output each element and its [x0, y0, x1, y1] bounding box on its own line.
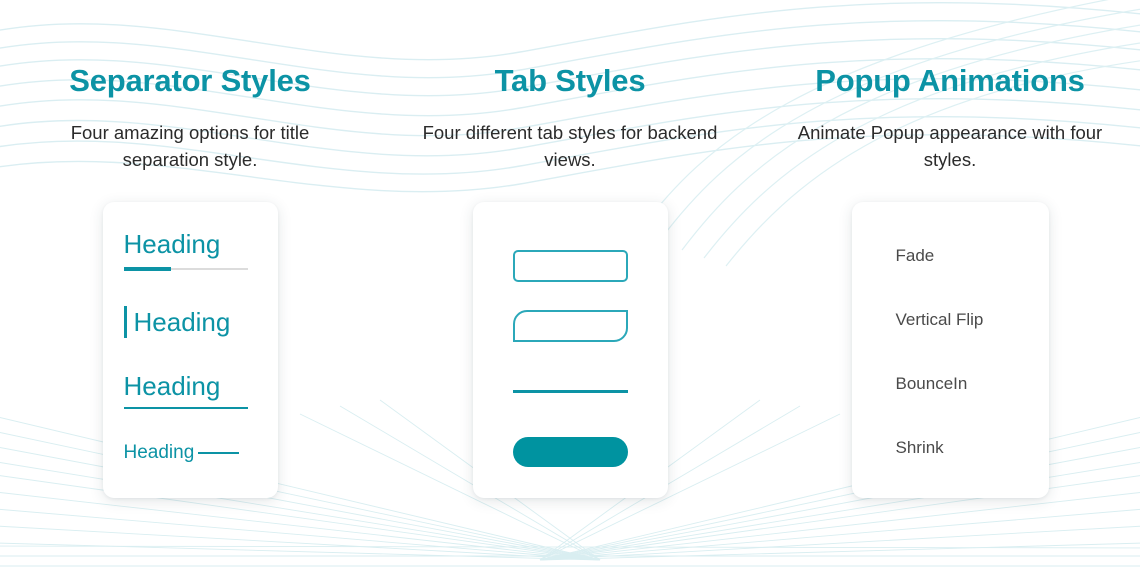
column-popup-animations: Popup Animations Animate Popup appearanc… — [760, 0, 1140, 578]
list-item-fade[interactable]: Fade — [896, 247, 935, 264]
subtitle-popup-animations: Animate Popup appearance with four style… — [795, 120, 1105, 174]
separator-label: Heading — [134, 308, 231, 336]
page-title-separator-styles: Separator Styles — [69, 64, 310, 98]
separator-rule-split — [124, 267, 248, 272]
tab-style-outline-rounded-rect[interactable] — [513, 250, 628, 282]
separator-label: Heading — [124, 230, 278, 258]
separator-rule-thin — [124, 407, 248, 409]
tab-preview-card — [473, 202, 668, 498]
page-title-tab-styles: Tab Styles — [495, 64, 646, 98]
subtitle-tab-styles: Four different tab styles for backend vi… — [415, 120, 725, 174]
tab-style-outline-diagonal-corners[interactable] — [513, 310, 628, 342]
separator-option-side-line[interactable]: Heading — [103, 443, 278, 464]
separator-preview-card: Heading Heading Heading Heading — [103, 202, 278, 498]
column-tab-styles: Tab Styles Four different tab styles for… — [380, 0, 760, 578]
list-item-bouncein[interactable]: BounceIn — [896, 375, 968, 392]
list-item-vertical-flip[interactable]: Vertical Flip — [896, 311, 984, 328]
list-item-shrink[interactable]: Shrink — [896, 439, 944, 456]
subtitle-separator-styles: Four amazing options for title separatio… — [35, 120, 345, 174]
page-title-popup-animations: Popup Animations — [815, 64, 1084, 98]
tab-style-filled-pill[interactable] — [513, 437, 628, 467]
column-separator-styles: Separator Styles Four amazing options fo… — [0, 0, 380, 578]
separator-label: Heading — [124, 443, 195, 464]
separator-option-underline-full[interactable]: Heading — [103, 372, 278, 409]
separator-label: Heading — [124, 372, 278, 400]
separator-option-left-bar[interactable]: Heading — [103, 306, 278, 338]
popup-animation-list-card: Fade Vertical Flip BounceIn Shrink — [852, 202, 1049, 498]
feature-showcase: Separator Styles Four amazing options fo… — [0, 0, 1140, 578]
tab-style-underline[interactable] — [513, 390, 628, 393]
separator-vertical-bar — [124, 306, 127, 338]
separator-rule-side — [198, 452, 239, 454]
separator-option-underline-split[interactable]: Heading — [103, 230, 278, 272]
